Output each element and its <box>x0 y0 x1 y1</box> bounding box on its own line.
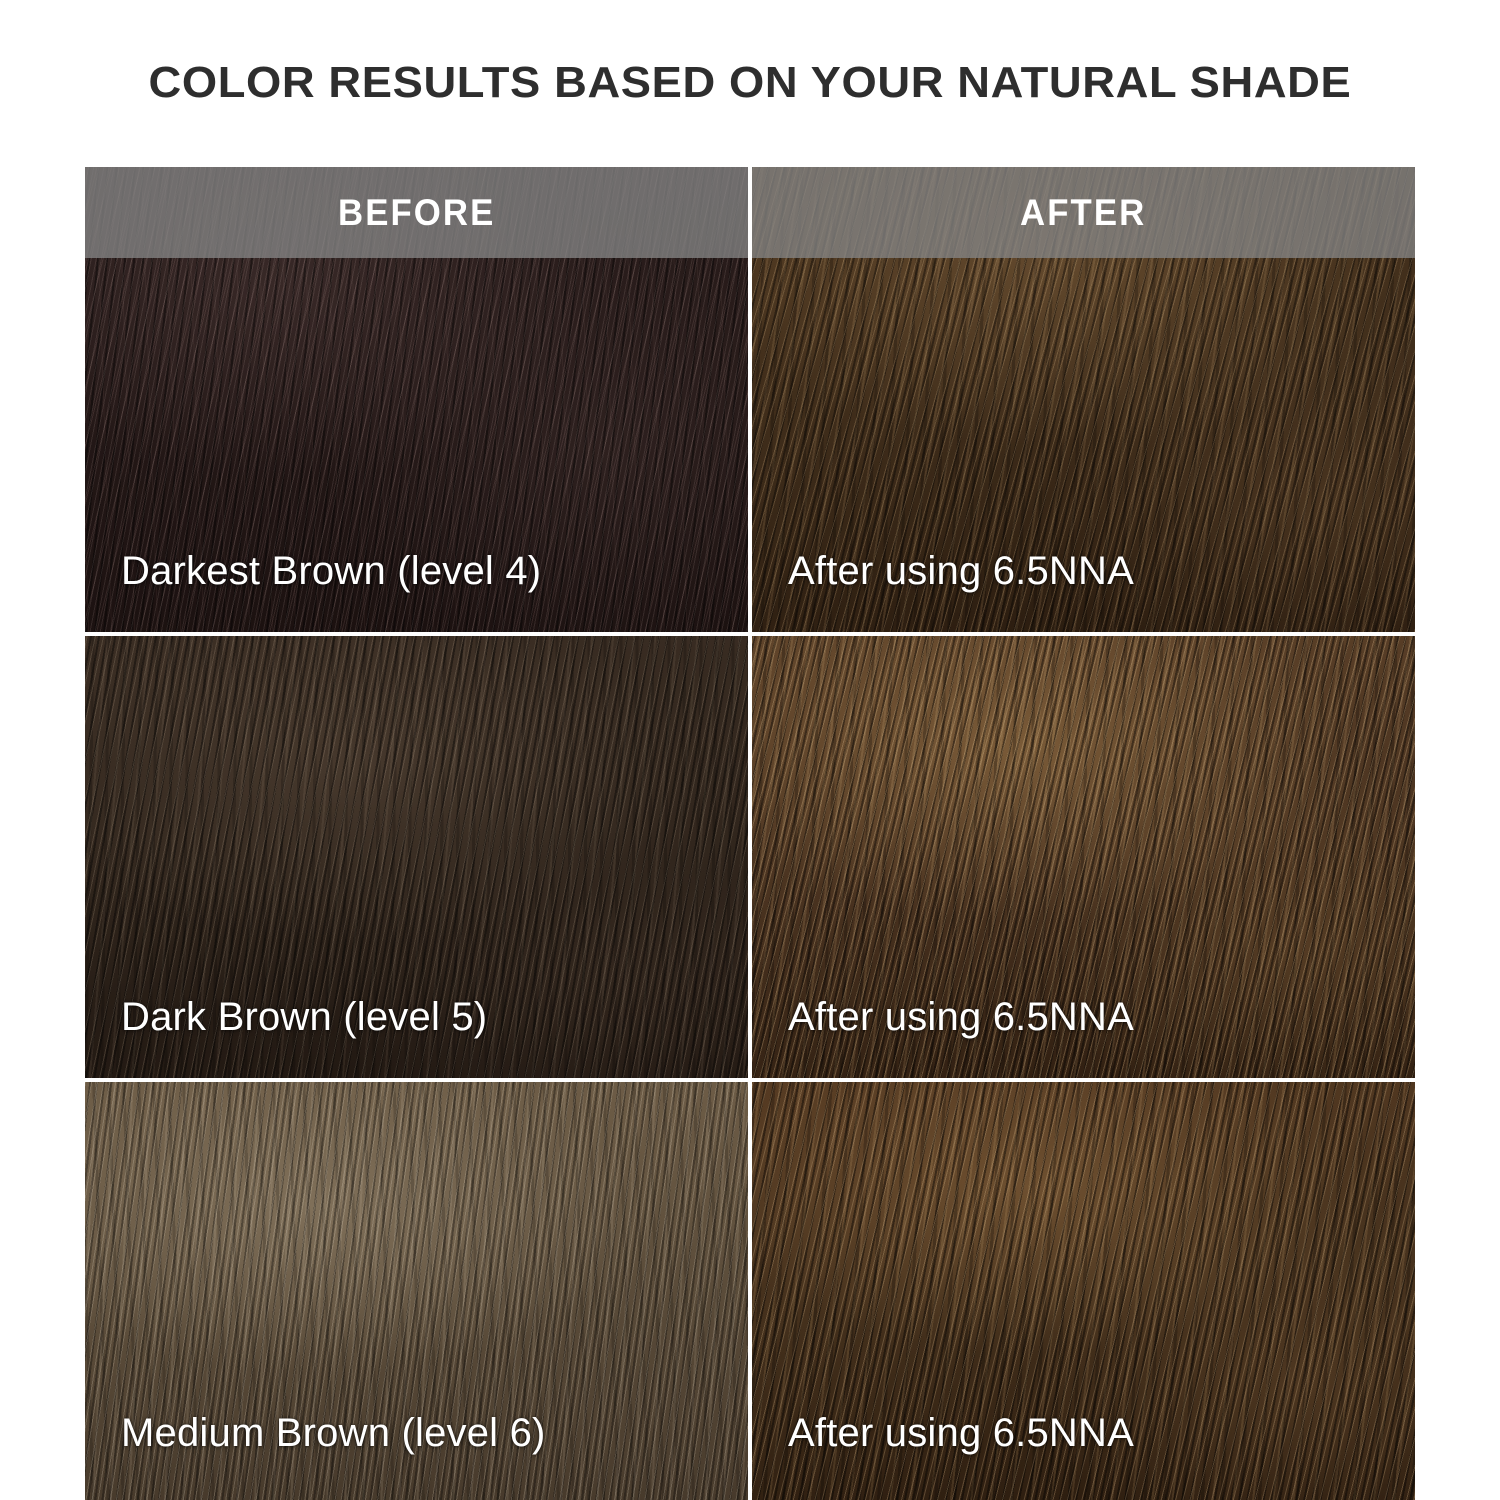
page-title: COLOR RESULTS BASED ON YOUR NATURAL SHAD… <box>149 58 1352 108</box>
caption-before-level-5: Dark Brown (level 5) <box>121 995 487 1040</box>
color-results-infographic: COLOR RESULTS BASED ON YOUR NATURAL SHAD… <box>0 0 1500 1500</box>
caption-before-level-6: Medium Brown (level 6) <box>121 1411 546 1456</box>
cell-before-level-5: Dark Brown (level 5) <box>85 636 748 1078</box>
caption-before-level-4: Darkest Brown (level 4) <box>121 549 541 594</box>
column-header-before-label: BEFORE <box>338 192 495 234</box>
cell-after-level-5: After using 6.5NNA <box>752 636 1415 1078</box>
column-header-after: AFTER <box>752 167 1415 258</box>
cell-after-level-6: After using 6.5NNA <box>752 1082 1415 1500</box>
caption-after-level-5: After using 6.5NNA <box>788 995 1134 1040</box>
column-header-after-label: AFTER <box>1020 192 1146 234</box>
column-header-before: BEFORE <box>85 167 748 258</box>
cell-after-level-4: AFTER After using 6.5NNA <box>752 167 1415 632</box>
caption-after-level-6: After using 6.5NNA <box>788 1411 1134 1456</box>
cell-before-level-6: Medium Brown (level 6) <box>85 1082 748 1500</box>
caption-after-level-4: After using 6.5NNA <box>788 549 1134 594</box>
cell-before-level-4: BEFORE Darkest Brown (level 4) <box>85 167 748 632</box>
before-after-grid: BEFORE Darkest Brown (level 4) AFTER Aft… <box>85 167 1415 1500</box>
page-title-container: COLOR RESULTS BASED ON YOUR NATURAL SHAD… <box>0 0 1500 165</box>
